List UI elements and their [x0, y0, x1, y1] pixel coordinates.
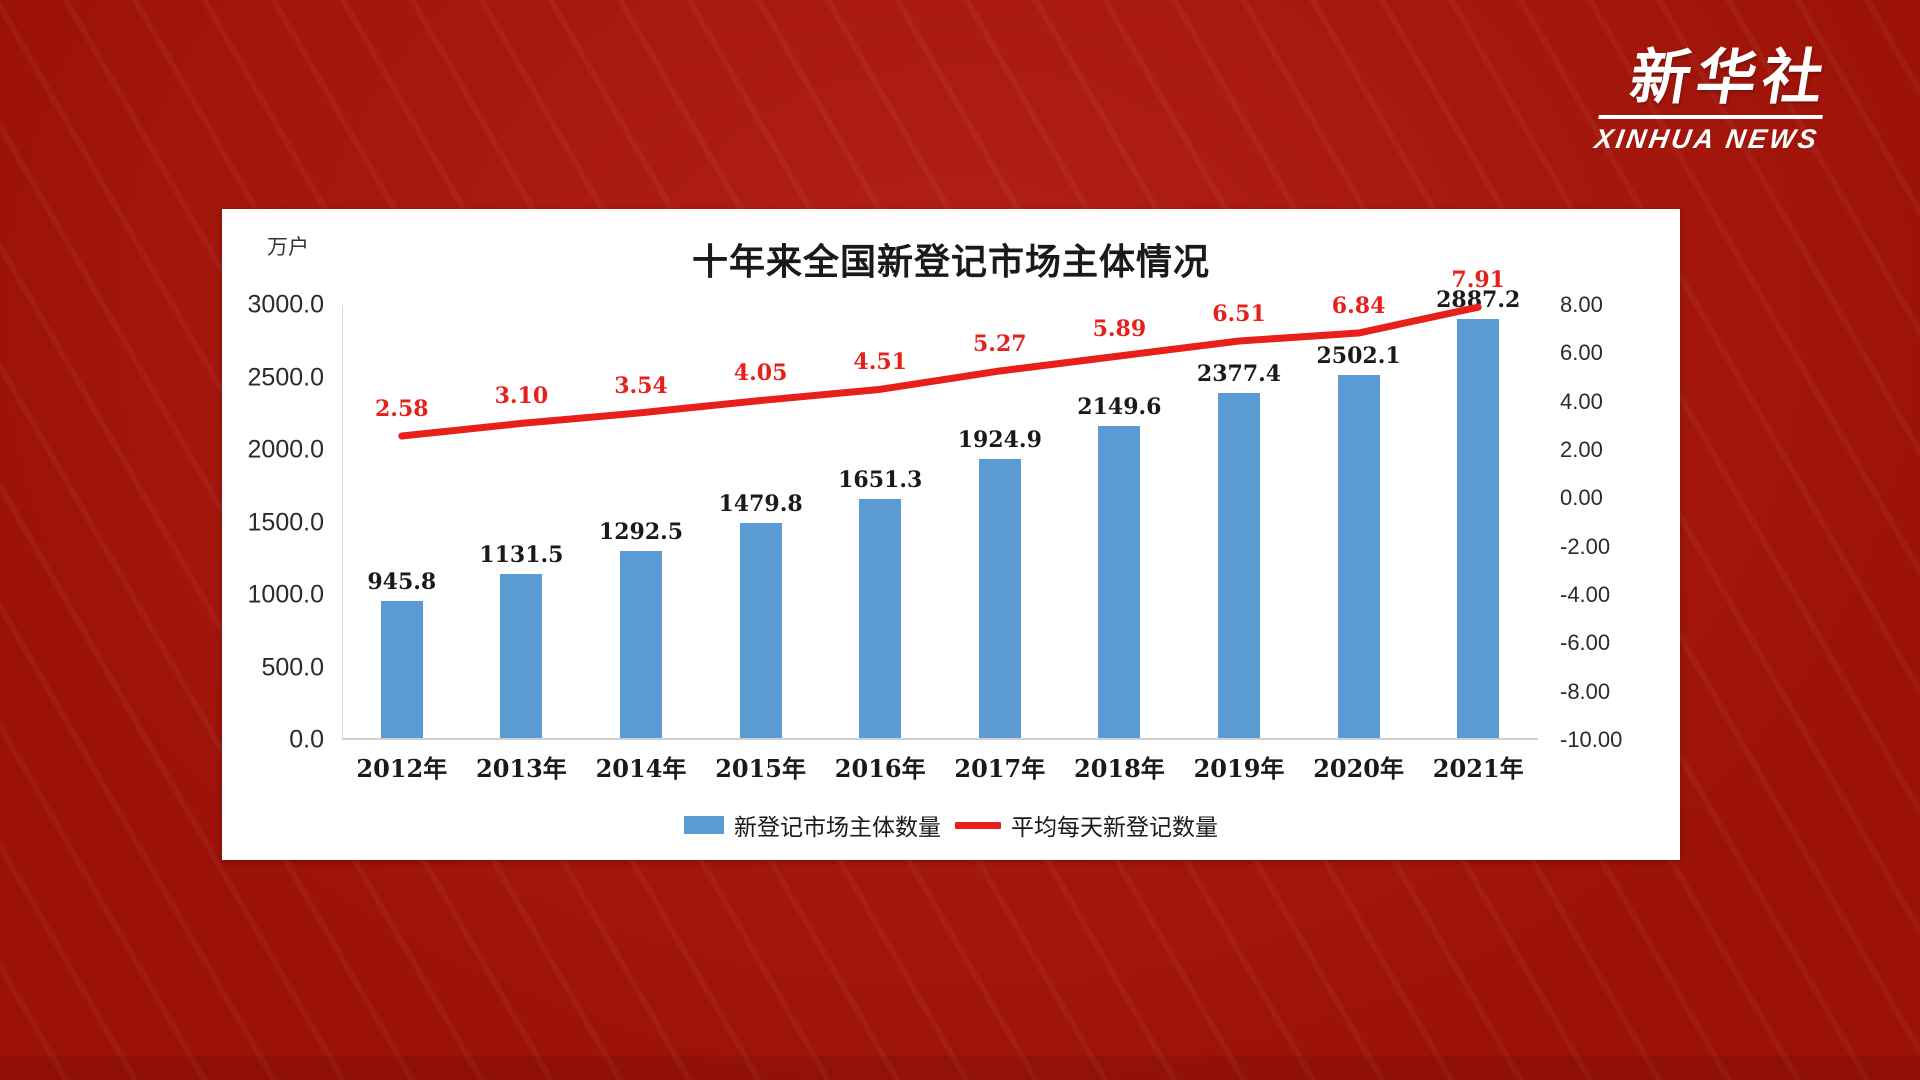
x-axis-tick-label: 2019年 — [1194, 749, 1285, 784]
x-axis-tick-label: 2017年 — [954, 749, 1045, 784]
secondary-y-axis-tick-label: 2.00 — [1560, 437, 1603, 463]
xinhua-logo-rule — [1598, 115, 1823, 119]
line-value-label: 4.05 — [734, 360, 788, 386]
chart-card: 万户 十年来全国新登记市场主体情况 0.0500.01000.01500.020… — [222, 209, 1680, 860]
y-axis-tick-label: 2500.0 — [248, 363, 324, 392]
legend-label-bars: 新登记市场主体数量 — [734, 808, 941, 842]
line-value-label: 6.84 — [1332, 293, 1386, 319]
legend-line-swatch-icon — [955, 822, 1001, 829]
chart-legend: 新登记市场主体数量 平均每天新登记数量 — [222, 808, 1680, 842]
y-axis-tick-label: 2000.0 — [248, 436, 324, 465]
legend-item-line: 平均每天新登记数量 — [955, 808, 1218, 842]
x-axis-tick-label: 2018年 — [1074, 749, 1165, 784]
plot-area: 0.0500.01000.01500.02000.02500.03000.0 -… — [342, 305, 1538, 740]
secondary-y-axis-tick-label: 6.00 — [1560, 340, 1603, 366]
legend-label-line: 平均每天新登记数量 — [1011, 808, 1218, 842]
x-axis-tick-label: 2012年 — [356, 749, 447, 784]
legend-item-bars: 新登记市场主体数量 — [684, 808, 941, 842]
legend-bar-swatch-icon — [684, 816, 724, 834]
y-axis-tick-label: 0.0 — [289, 726, 324, 755]
x-axis-tick-label: 2013年 — [476, 749, 567, 784]
line-value-label: 3.54 — [614, 373, 668, 399]
secondary-y-axis-tick-label: 0.00 — [1560, 485, 1603, 511]
secondary-y-axis-tick-label: 8.00 — [1560, 292, 1603, 318]
xinhua-logo-cn: 新华社 — [1600, 48, 1834, 108]
y-axis-tick-label: 500.0 — [261, 653, 324, 682]
line-value-label: 4.51 — [853, 349, 907, 375]
xinhua-logo-en: XINHUA NEWS — [1593, 124, 1822, 155]
line-value-label: 5.89 — [1093, 316, 1147, 342]
y-axis-tick-label: 3000.0 — [248, 291, 324, 320]
line-value-label: 5.27 — [973, 331, 1027, 357]
x-axis-tick-label: 2014年 — [596, 749, 687, 784]
secondary-y-axis-tick-label: -10.00 — [1560, 727, 1622, 753]
line-series — [342, 305, 1538, 740]
x-axis-tick-label: 2021年 — [1433, 749, 1524, 784]
xinhua-logo: 新华社 XINHUA NEWS — [1593, 48, 1834, 155]
line-value-label: 6.51 — [1212, 301, 1266, 327]
x-axis-tick-label: 2020年 — [1313, 749, 1404, 784]
secondary-y-axis-tick-label: -6.00 — [1560, 630, 1610, 656]
line-value-label: 2.58 — [375, 396, 429, 422]
secondary-y-axis-tick-label: -4.00 — [1560, 582, 1610, 608]
secondary-y-axis-tick-label: -8.00 — [1560, 679, 1610, 705]
y-axis-tick-label: 1000.0 — [248, 581, 324, 610]
x-axis-tick-label: 2016年 — [835, 749, 926, 784]
secondary-y-axis-tick-label: 4.00 — [1560, 389, 1603, 415]
secondary-y-axis-tick-label: -2.00 — [1560, 534, 1610, 560]
x-axis-tick-label: 2015年 — [715, 749, 806, 784]
y-axis-tick-label: 1500.0 — [248, 508, 324, 537]
line-value-label: 3.10 — [495, 383, 549, 409]
line-value-label: 7.91 — [1451, 267, 1505, 293]
bottom-band — [0, 1056, 1920, 1080]
